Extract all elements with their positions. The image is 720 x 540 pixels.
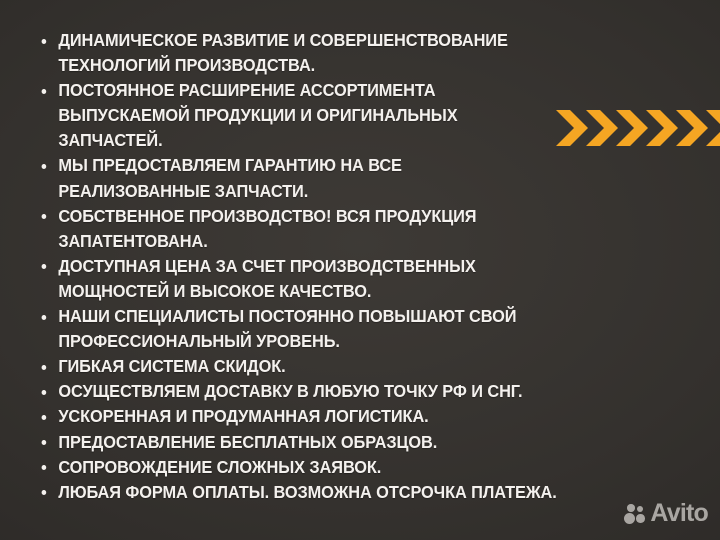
list-item-text: ОСУЩЕСТВЛЯЕМ ДОСТАВКУ В ЛЮБУЮ ТОЧКУ РФ И… [58, 379, 556, 404]
list-item-text: МЫ ПРЕДОСТАВЛЯЕМ ГАРАНТИЮ НА ВСЕ РЕАЛИЗО… [58, 153, 556, 203]
chevron-right-icon [616, 110, 648, 146]
bullet-dot-icon [42, 39, 47, 44]
list-item-text: УСКОРЕННАЯ И ПРОДУМАННАЯ ЛОГИСТИКА. [58, 404, 556, 429]
bullet-dot-icon [42, 315, 47, 320]
list-item: МЫ ПРЕДОСТАВЛЯЕМ ГАРАНТИЮ НА ВСЕ РЕАЛИЗО… [36, 153, 557, 203]
list-item: ПОСТОЯННОЕ РАСШИРЕНИЕ АССОРТИМЕНТА ВЫПУС… [36, 78, 557, 153]
bullet-dot-icon [42, 390, 47, 395]
list-item-text: ДОСТУПНАЯ ЦЕНА ЗА СЧЕТ ПРОИЗВОДСТВЕННЫХ … [58, 254, 556, 304]
avito-watermark: Avito [624, 501, 708, 526]
chevron-right-icon [706, 110, 720, 146]
list-item: ПРЕДОСТАВЛЕНИЕ БЕСПЛАТНЫХ ОБРАЗЦОВ. [36, 430, 557, 455]
bullet-dot-icon [42, 164, 47, 169]
list-item-text: ПРЕДОСТАВЛЕНИЕ БЕСПЛАТНЫХ ОБРАЗЦОВ. [58, 430, 556, 455]
list-item: СОПРОВОЖДЕНИЕ СЛОЖНЫХ ЗАЯВОК. [36, 455, 557, 480]
list-item: ДОСТУПНАЯ ЦЕНА ЗА СЧЕТ ПРОИЗВОДСТВЕННЫХ … [36, 254, 557, 304]
list-item-text: СОПРОВОЖДЕНИЕ СЛОЖНЫХ ЗАЯВОК. [58, 455, 556, 480]
bullet-dot-icon [42, 89, 47, 94]
bullet-dot-icon [42, 440, 47, 445]
list-item: ЛЮБАЯ ФОРМА ОПЛАТЫ. ВОЗМОЖНА ОТСРОЧКА ПЛ… [36, 480, 557, 505]
bullet-dot-icon [42, 415, 47, 420]
bullet-dot-icon [42, 365, 47, 370]
list-item: ДИНАМИЧЕСКОЕ РАЗВИТИЕ И СОВЕРШЕНСТВОВАНИ… [36, 28, 557, 78]
bullet-dot-icon [42, 465, 47, 470]
avito-dots-logo-icon [624, 503, 646, 525]
list-item: УСКОРЕННАЯ И ПРОДУМАННАЯ ЛОГИСТИКА. [36, 404, 557, 429]
bullet-dot-icon [42, 264, 47, 269]
promo-banner: ДИНАМИЧЕСКОЕ РАЗВИТИЕ И СОВЕРШЕНСТВОВАНИ… [0, 0, 720, 540]
list-item-text: НАШИ СПЕЦИАЛИСТЫ ПОСТОЯННО ПОВЫШАЮТ СВОЙ… [58, 304, 556, 354]
chevron-right-icon [676, 110, 708, 146]
list-item-text: ГИБКАЯ СИСТЕМА СКИДОК. [58, 354, 556, 379]
list-item-text: ПОСТОЯННОЕ РАСШИРЕНИЕ АССОРТИМЕНТА ВЫПУС… [58, 78, 556, 153]
bullet-dot-icon [42, 214, 47, 219]
list-item: СОБСТВЕННОЕ ПРОИЗВОДСТВО! ВСЯ ПРОДУКЦИЯ … [36, 204, 557, 254]
list-item: НАШИ СПЕЦИАЛИСТЫ ПОСТОЯННО ПОВЫШАЮТ СВОЙ… [36, 304, 557, 354]
list-item-text: СОБСТВЕННОЕ ПРОИЗВОДСТВО! ВСЯ ПРОДУКЦИЯ … [58, 204, 556, 254]
list-item: ОСУЩЕСТВЛЯЕМ ДОСТАВКУ В ЛЮБУЮ ТОЧКУ РФ И… [36, 379, 557, 404]
list-item-text: ЛЮБАЯ ФОРМА ОПЛАТЫ. ВОЗМОЖНА ОТСРОЧКА ПЛ… [58, 480, 556, 505]
avito-wordmark: Avito [650, 501, 708, 526]
list-item-text: ДИНАМИЧЕСКОЕ РАЗВИТИЕ И СОВЕРШЕНСТВОВАНИ… [58, 28, 556, 78]
list-item: ГИБКАЯ СИСТЕМА СКИДОК. [36, 354, 557, 379]
bullet-dot-icon [42, 490, 47, 495]
advantages-bullet-list: ДИНАМИЧЕСКОЕ РАЗВИТИЕ И СОВЕРШЕНСТВОВАНИ… [36, 28, 596, 505]
chevron-right-icon [646, 110, 678, 146]
